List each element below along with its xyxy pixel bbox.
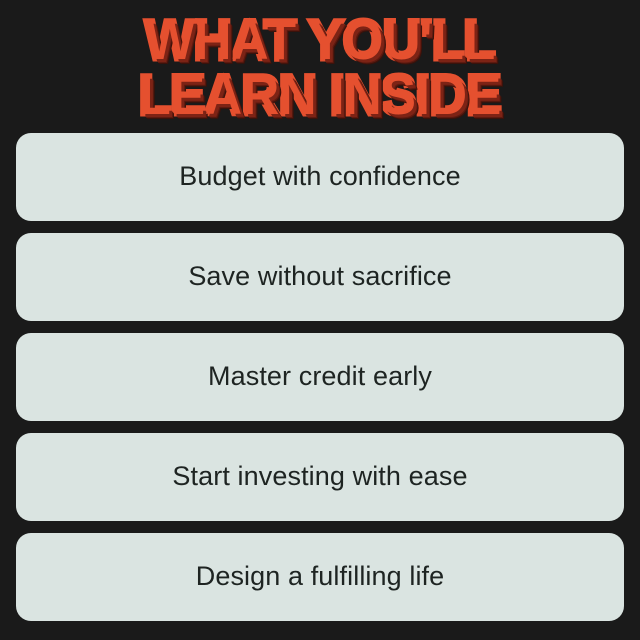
- list-item[interactable]: Budget with confidence: [16, 133, 624, 221]
- list-item[interactable]: Master credit early: [16, 333, 624, 421]
- list-item[interactable]: Start investing with ease: [16, 433, 624, 521]
- poster-canvas: WHAT YOU'LL LEARN INSIDE Budget with con…: [0, 0, 640, 640]
- list-item-label: Start investing with ease: [172, 462, 467, 492]
- title-line-2: LEARN INSIDE: [22, 69, 617, 121]
- list-item-label: Master credit early: [208, 362, 432, 392]
- page-title: WHAT YOU'LL LEARN INSIDE: [0, 14, 640, 120]
- list-item-label: Budget with confidence: [179, 162, 460, 192]
- list-item-label: Design a fulfilling life: [196, 562, 445, 592]
- list-item[interactable]: Design a fulfilling life: [16, 533, 624, 621]
- list-item[interactable]: Save without sacrifice: [16, 233, 624, 321]
- title-line-1: WHAT YOU'LL: [22, 14, 617, 66]
- list-item-label: Save without sacrifice: [188, 262, 451, 292]
- learn-items-list: Budget with confidence Save without sacr…: [16, 133, 624, 621]
